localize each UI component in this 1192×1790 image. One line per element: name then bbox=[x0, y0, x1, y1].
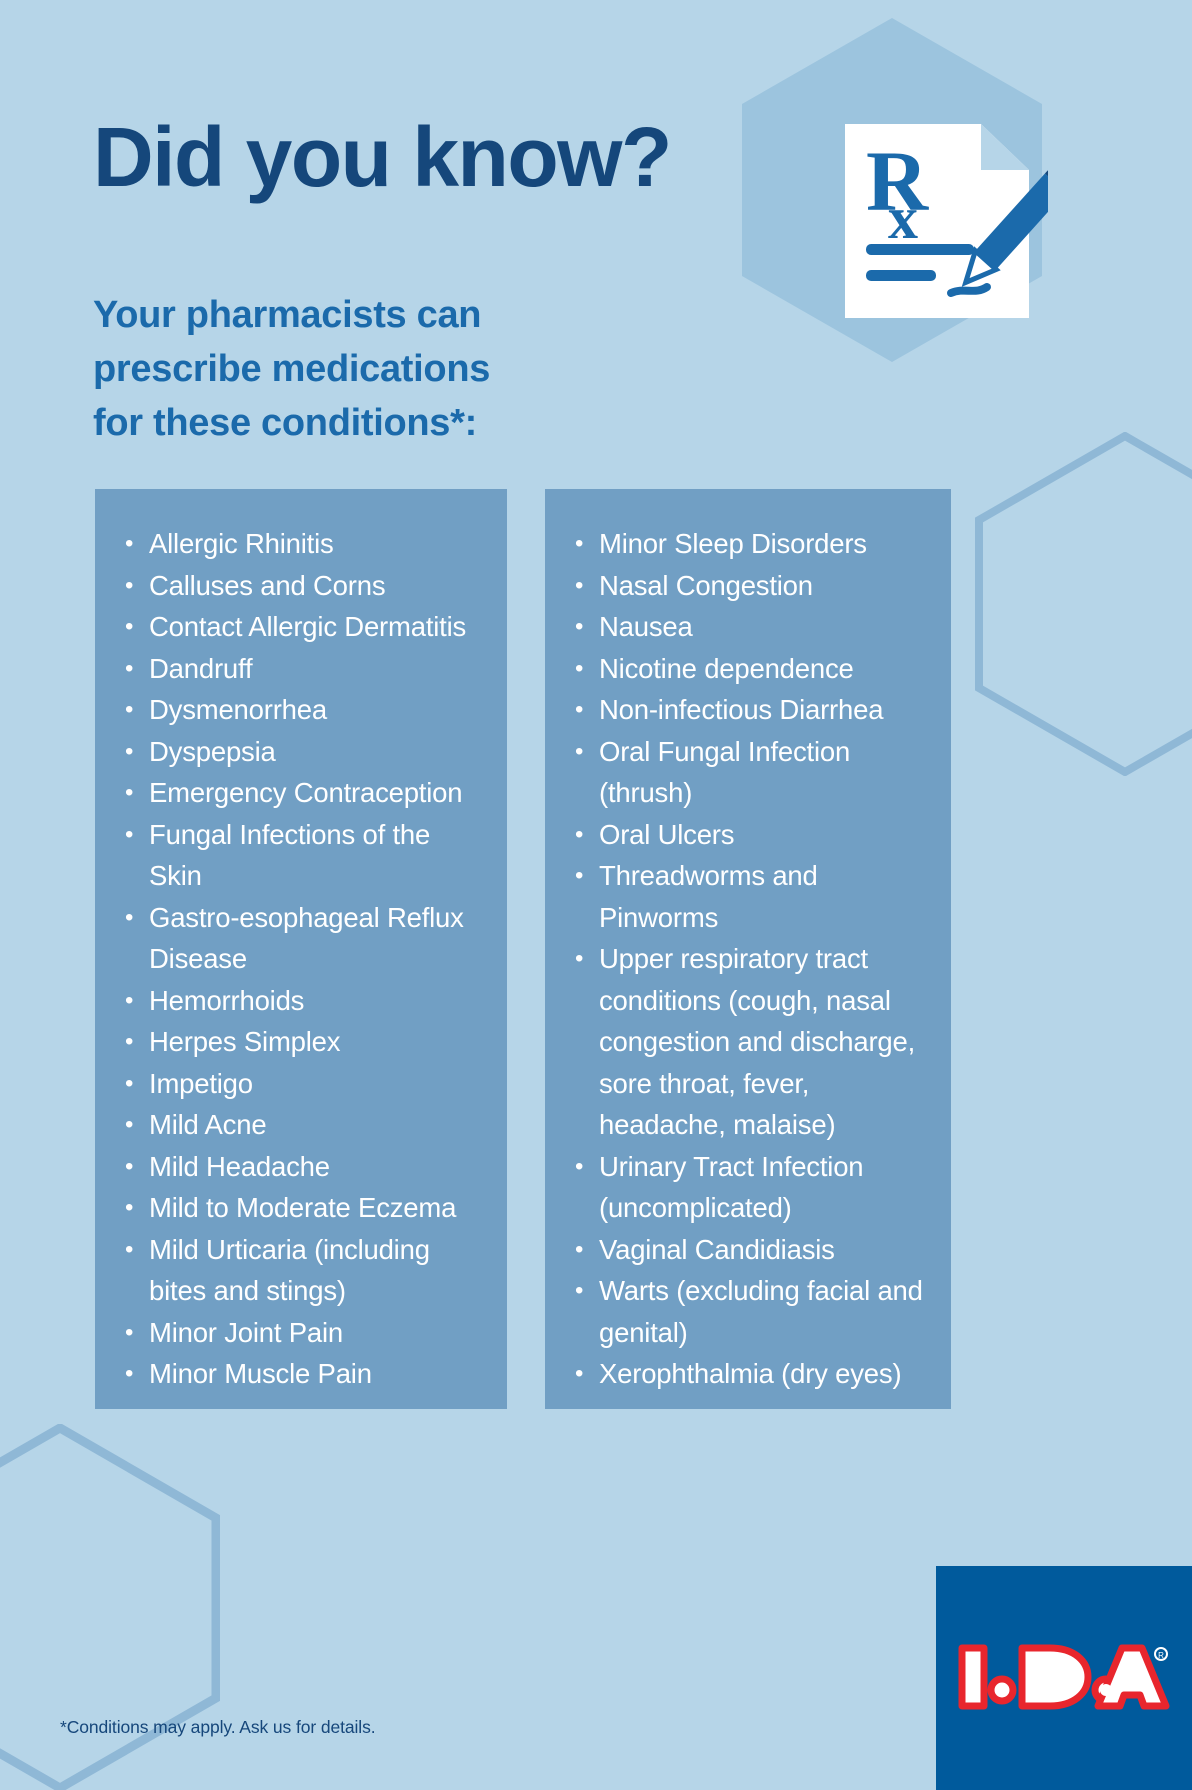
conditions-panels: Allergic RhinitisCalluses and CornsConta… bbox=[0, 0, 1192, 1790]
condition-list-item: Upper respiratory tract conditions (coug… bbox=[573, 938, 929, 1146]
condition-list-item: Minor Sleep Disorders bbox=[573, 523, 929, 565]
condition-list-item: Mild Urticaria (including bites and stin… bbox=[123, 1229, 485, 1312]
condition-list-item: Minor Joint Pain bbox=[123, 1312, 485, 1354]
condition-list-item: Impetigo bbox=[123, 1063, 485, 1105]
condition-list-item: Mild Headache bbox=[123, 1146, 485, 1188]
conditions-panel-right: Minor Sleep DisordersNasal CongestionNau… bbox=[545, 489, 951, 1409]
condition-list-item: Mild to Moderate Eczema bbox=[123, 1187, 485, 1229]
condition-list-item: Nicotine dependence bbox=[573, 648, 929, 690]
condition-list-item: Warts (excluding facial and genital) bbox=[573, 1270, 929, 1353]
ida-logo-icon: R bbox=[956, 1640, 1172, 1714]
condition-list-item: Nasal Congestion bbox=[573, 565, 929, 607]
condition-list-item: Oral Fungal Infection (thrush) bbox=[573, 731, 929, 814]
conditions-list-left: Allergic RhinitisCalluses and CornsConta… bbox=[123, 523, 485, 1395]
svg-text:R: R bbox=[1158, 1651, 1164, 1660]
condition-list-item: Oral Ulcers bbox=[573, 814, 929, 856]
conditions-list-right: Minor Sleep DisordersNasal CongestionNau… bbox=[573, 523, 929, 1395]
condition-list-item: Dysmenorrhea bbox=[123, 689, 485, 731]
condition-list-item: Vaginal Candidiasis bbox=[573, 1229, 929, 1271]
ida-logo-box: R bbox=[936, 1566, 1192, 1790]
condition-list-item: Non-infectious Diarrhea bbox=[573, 689, 929, 731]
condition-list-item: Threadworms and Pinworms bbox=[573, 855, 929, 938]
condition-list-item: Dandruff bbox=[123, 648, 485, 690]
condition-list-item: Gastro-esophageal Reflux Disease bbox=[123, 897, 485, 980]
condition-list-item: Urinary Tract Infection (uncomplicated) bbox=[573, 1146, 929, 1229]
condition-list-item: Hemorrhoids bbox=[123, 980, 485, 1022]
condition-list-item: Herpes Simplex bbox=[123, 1021, 485, 1063]
condition-list-item: Allergic Rhinitis bbox=[123, 523, 485, 565]
condition-list-item: Contact Allergic Dermatitis bbox=[123, 606, 485, 648]
condition-list-item: Emergency Contraception bbox=[123, 772, 485, 814]
condition-list-item: Calluses and Corns bbox=[123, 565, 485, 607]
condition-list-item: Dyspepsia bbox=[123, 731, 485, 773]
conditions-panel-left: Allergic RhinitisCalluses and CornsConta… bbox=[95, 489, 507, 1409]
condition-list-item: Mild Acne bbox=[123, 1104, 485, 1146]
footnote-text: *Conditions may apply. Ask us for detail… bbox=[60, 1717, 376, 1738]
condition-list-item: Xerophthalmia (dry eyes) bbox=[573, 1353, 929, 1395]
condition-list-item: Nausea bbox=[573, 606, 929, 648]
condition-list-item: Fungal Infections of the Skin bbox=[123, 814, 485, 897]
infographic-poster: R x Did you know? Your pharmacists can p… bbox=[0, 0, 1192, 1790]
condition-list-item: Minor Muscle Pain bbox=[123, 1353, 485, 1395]
